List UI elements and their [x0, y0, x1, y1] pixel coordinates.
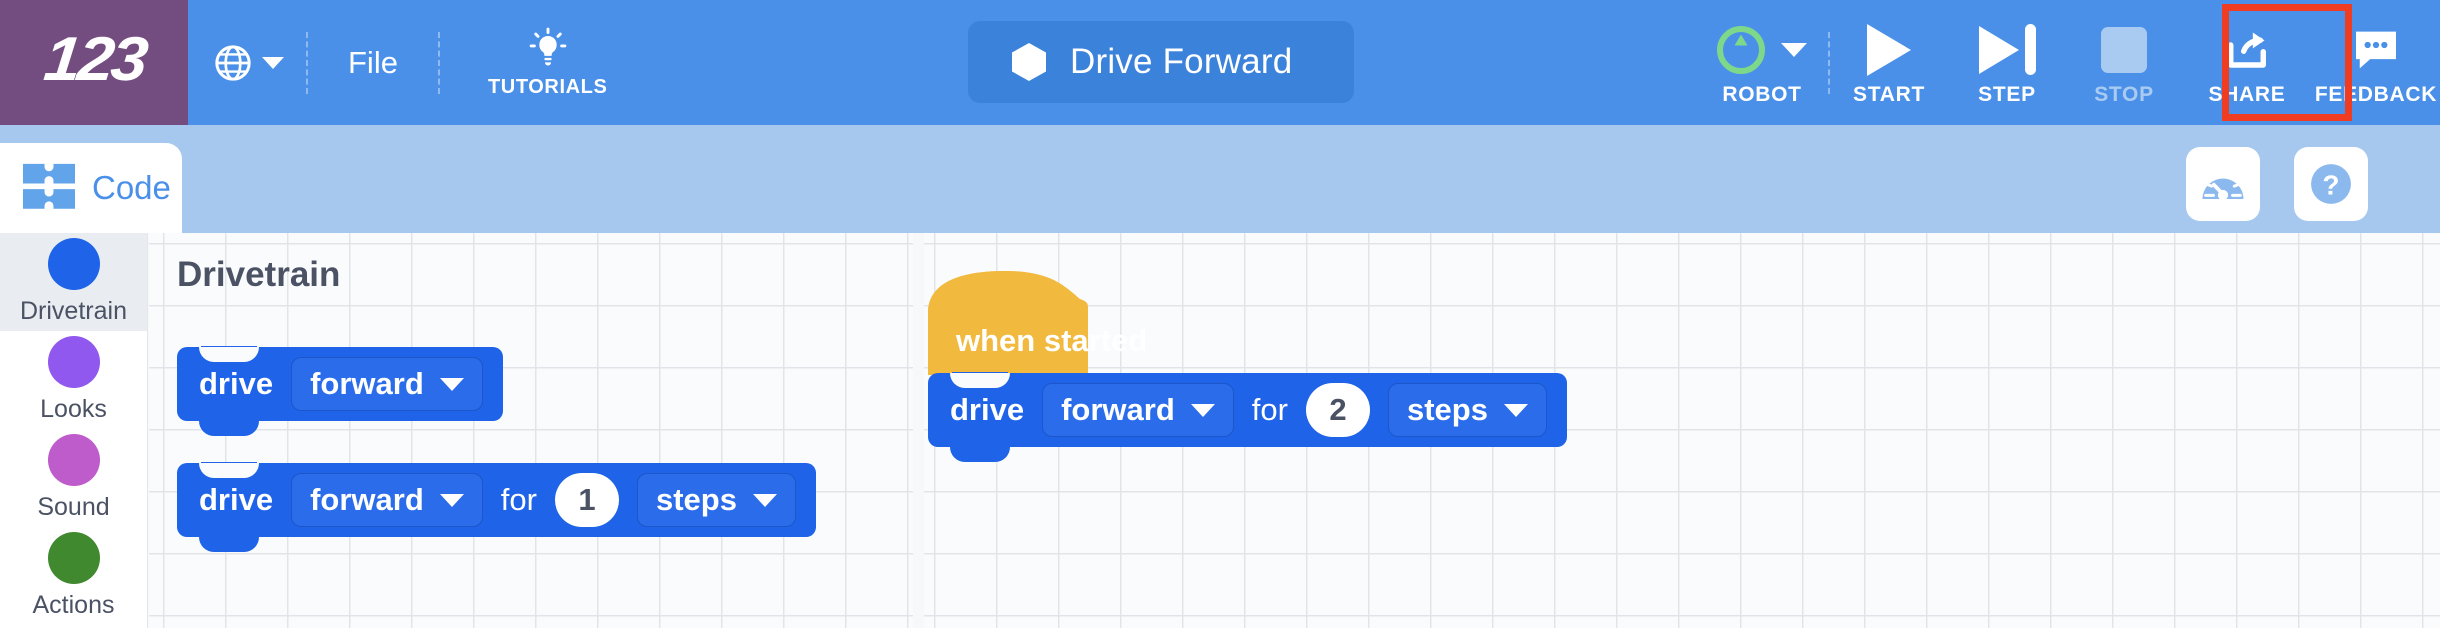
- category-rail: Drivetrain Looks Sound Actions: [0, 233, 148, 628]
- share-button[interactable]: SHARE: [2182, 0, 2312, 125]
- block-notch-bottom: [199, 537, 259, 552]
- code-blocks-icon: [20, 162, 78, 214]
- tutorials-button[interactable]: TUTORIALS: [458, 26, 637, 99]
- category-label: Looks: [40, 395, 107, 424]
- block-palette[interactable]: Drivetrain drive forward drive forward: [149, 233, 913, 628]
- language-selector[interactable]: [188, 44, 306, 82]
- category-label: Sound: [37, 493, 109, 522]
- chevron-down-icon: [1504, 404, 1528, 417]
- palette-block-drive[interactable]: drive forward: [177, 347, 503, 421]
- feedback-button[interactable]: FEEDBACK: [2312, 0, 2440, 125]
- feedback-chat-icon: [2351, 27, 2401, 73]
- steps-number-input[interactable]: 1: [555, 473, 619, 527]
- chevron-down-icon: [440, 378, 464, 391]
- chevron-down-icon: [753, 494, 777, 507]
- robot-status-icon: [1717, 19, 1807, 81]
- vex-123-coding-studio: 123 File: [0, 0, 2440, 628]
- block-notch-top: [199, 347, 259, 362]
- category-looks[interactable]: Looks: [0, 331, 147, 429]
- hexagon-icon: [1012, 43, 1046, 81]
- sound-color-dot: [48, 434, 100, 486]
- help-button[interactable]: ?: [2294, 147, 2368, 221]
- play-icon: [1867, 24, 1911, 76]
- category-actions[interactable]: Actions: [0, 527, 147, 625]
- chevron-down-icon: [262, 57, 284, 69]
- robot-status-button[interactable]: ROBOT: [1696, 0, 1828, 125]
- chevron-down-icon: [1191, 404, 1215, 417]
- block-notch-bottom: [950, 447, 1010, 462]
- direction-value: forward: [310, 366, 424, 402]
- stop-label: STOP: [2094, 83, 2154, 107]
- category-label: Drivetrain: [20, 297, 127, 326]
- category-label: Actions: [33, 591, 115, 620]
- steps-value: 2: [1329, 392, 1346, 428]
- direction-dropdown[interactable]: forward: [291, 473, 483, 527]
- logo-text: 123: [40, 29, 147, 97]
- block-notch-top: [199, 463, 259, 478]
- unit-dropdown[interactable]: steps: [1388, 383, 1547, 437]
- steps-value: 1: [578, 482, 595, 518]
- tab-code[interactable]: Code: [0, 143, 182, 233]
- code-workspace[interactable]: when started drive forward for 2 steps: [924, 233, 2440, 628]
- unit-value: steps: [1407, 392, 1488, 428]
- help-icon: ?: [2308, 161, 2354, 207]
- step-forward-icon: [1979, 24, 2036, 75]
- tab-band: Code: [0, 125, 2440, 233]
- start-label: START: [1853, 83, 1925, 107]
- stop-square-icon: [2101, 27, 2147, 73]
- workspace-block-drive-for-steps[interactable]: drive forward for 2 steps: [928, 373, 1567, 447]
- file-menu-label: File: [348, 45, 398, 81]
- globe-icon: [214, 44, 252, 82]
- dashboard-icon: [2200, 164, 2246, 204]
- main-area: Drivetrain Looks Sound Actions Drivetrai…: [0, 233, 2440, 628]
- chevron-down-icon: [440, 494, 464, 507]
- share-label: SHARE: [2208, 83, 2285, 107]
- block-notch-top: [950, 373, 1010, 388]
- toolbar-controls: ROBOT START STEP STOP: [1696, 0, 2440, 125]
- palette-block-drive-for-steps[interactable]: drive forward for 1 steps: [177, 463, 816, 537]
- feedback-label: FEEDBACK: [2315, 83, 2437, 107]
- robot-label: ROBOT: [1722, 83, 1801, 107]
- start-button[interactable]: START: [1830, 0, 1948, 125]
- tutorials-label: TUTORIALS: [488, 76, 607, 99]
- direction-dropdown[interactable]: forward: [1042, 383, 1234, 437]
- stop-button[interactable]: STOP: [2066, 0, 2182, 125]
- svg-text:?: ?: [2323, 170, 2340, 201]
- when-started-hat-block[interactable]: when started: [928, 271, 1224, 375]
- direction-value: forward: [310, 482, 424, 518]
- actions-color-dot: [48, 532, 100, 584]
- block-for-label: for: [501, 482, 537, 518]
- block-for-label: for: [1252, 392, 1288, 428]
- block-verb: drive: [950, 392, 1024, 428]
- share-icon: [2221, 25, 2273, 75]
- lightbulb-icon: [525, 26, 571, 72]
- chevron-down-icon: [1781, 43, 1807, 57]
- project-name: Drive Forward: [1070, 42, 1292, 82]
- block-verb: drive: [199, 482, 273, 518]
- direction-value: forward: [1061, 392, 1175, 428]
- unit-value: steps: [656, 482, 737, 518]
- step-label: STEP: [1978, 83, 2036, 107]
- looks-color-dot: [48, 336, 100, 388]
- category-sound[interactable]: Sound: [0, 429, 147, 527]
- band-actions: ?: [2186, 147, 2368, 221]
- step-button[interactable]: STEP: [1948, 0, 2066, 125]
- app-logo[interactable]: 123: [0, 0, 188, 125]
- file-menu-button[interactable]: File: [308, 45, 438, 81]
- tab-code-label: Code: [92, 169, 171, 207]
- direction-dropdown[interactable]: forward: [291, 357, 483, 411]
- palette-heading: Drivetrain: [177, 255, 340, 295]
- block-notch-bottom: [199, 421, 259, 436]
- toolbar-divider-2: [438, 32, 440, 94]
- project-title-button[interactable]: Drive Forward: [968, 21, 1354, 103]
- block-verb: drive: [199, 366, 273, 402]
- unit-dropdown[interactable]: steps: [637, 473, 796, 527]
- hat-block-label: when started: [956, 323, 1147, 359]
- dashboard-button[interactable]: [2186, 147, 2260, 221]
- steps-number-input[interactable]: 2: [1306, 383, 1370, 437]
- category-drivetrain[interactable]: Drivetrain: [0, 233, 147, 331]
- drivetrain-color-dot: [48, 238, 100, 290]
